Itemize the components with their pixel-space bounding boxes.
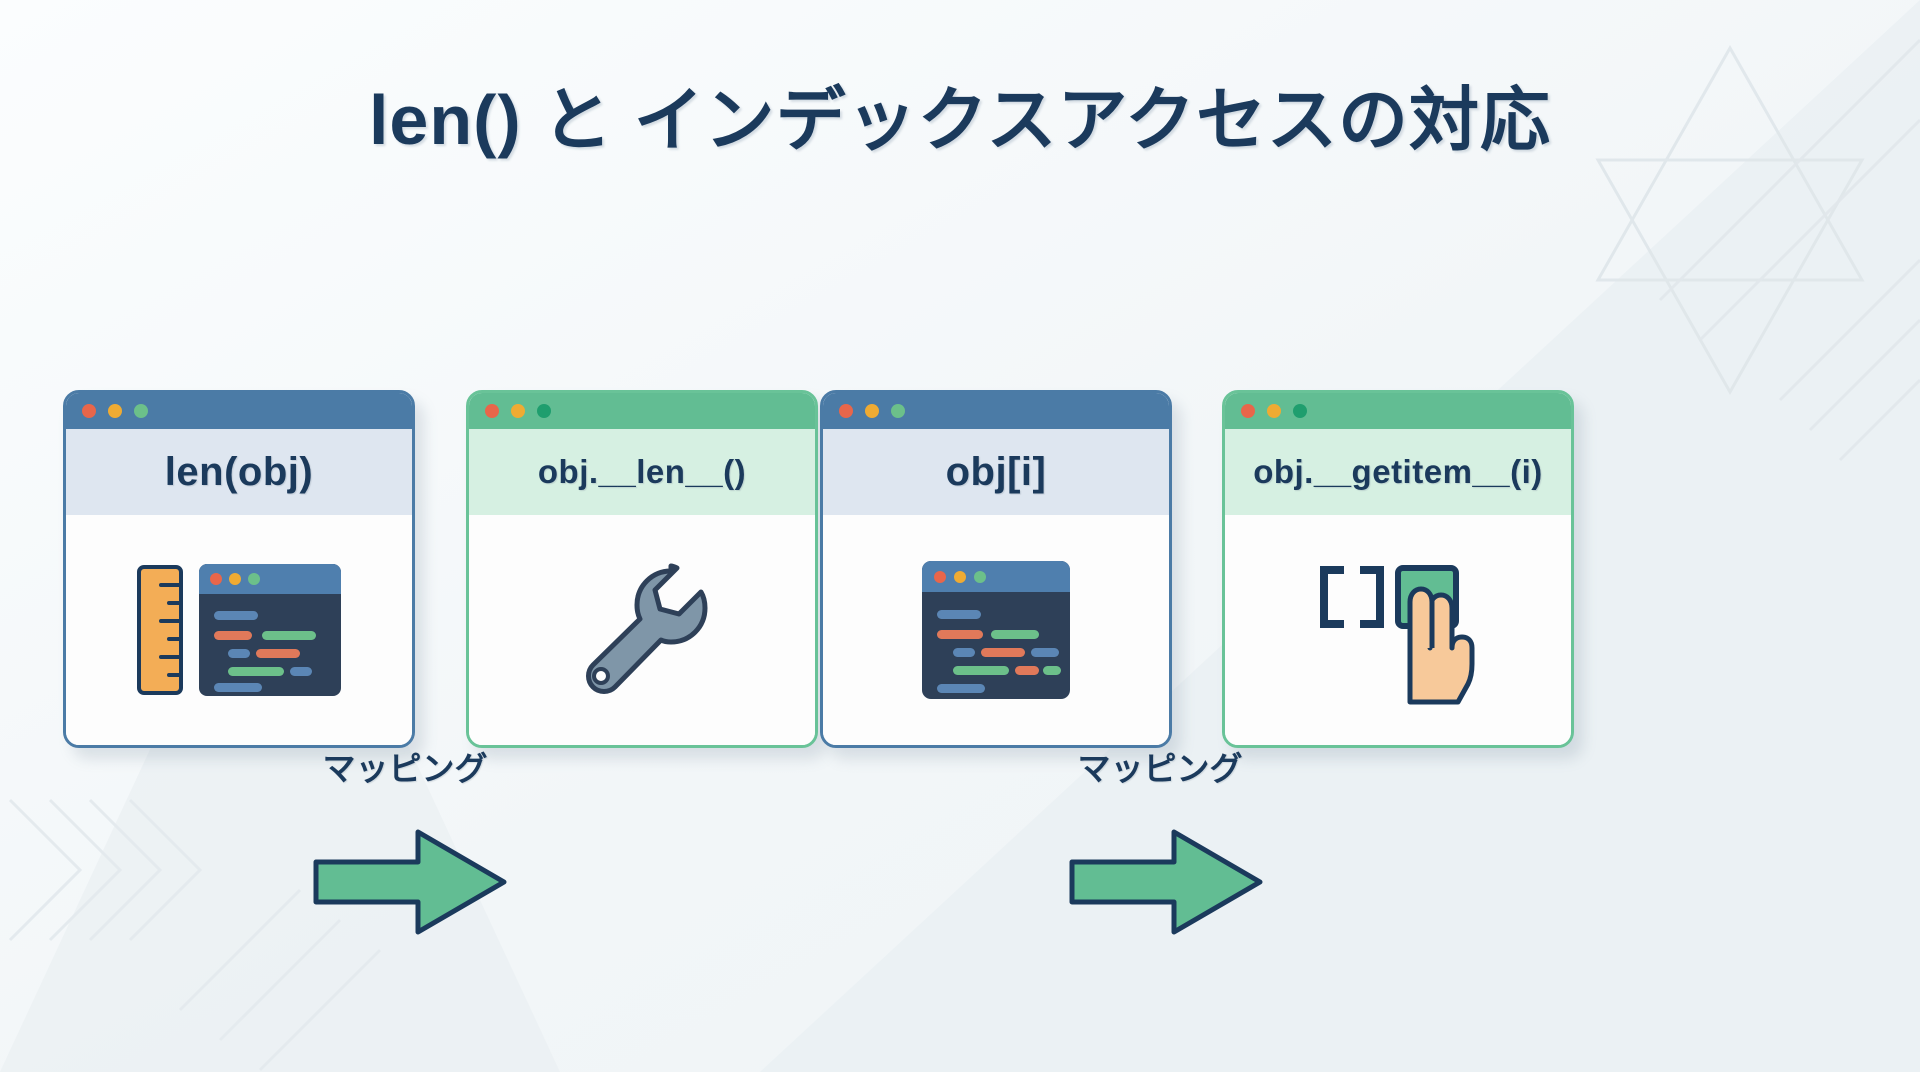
cards-row: len(obj) xyxy=(0,390,1920,750)
card-obj-index[interactable]: obj[i] xyxy=(820,390,1172,748)
card-titlebar xyxy=(823,393,1169,429)
card-dunder-getitem[interactable]: obj.__getitem__(i) xyxy=(1222,390,1574,748)
window-minimize-dot-icon xyxy=(865,404,879,418)
pointing-hand-icon xyxy=(1410,589,1472,702)
brackets-icon xyxy=(1324,570,1380,624)
window-close-dot-icon xyxy=(1241,404,1255,418)
caption-mapping-1: マッピング xyxy=(205,742,605,790)
card-body xyxy=(1225,515,1571,745)
wrench-icon xyxy=(567,555,717,705)
mapping-arrow-1 xyxy=(310,822,510,942)
index-access-icon xyxy=(1298,550,1498,710)
card-body xyxy=(823,515,1169,745)
window-maximize-dot-icon xyxy=(134,404,148,418)
window-maximize-dot-icon xyxy=(1293,404,1307,418)
card-label-obj-index: obj[i] xyxy=(823,429,1169,515)
window-minimize-dot-icon xyxy=(511,404,525,418)
window-maximize-dot-icon xyxy=(537,404,551,418)
window-minimize-dot-icon xyxy=(1267,404,1281,418)
mapping-arrow-2 xyxy=(1066,822,1266,942)
window-close-dot-icon xyxy=(485,404,499,418)
card-label-dunder-getitem: obj.__getitem__(i) xyxy=(1225,429,1571,515)
code-editor-icon xyxy=(198,563,342,697)
window-maximize-dot-icon xyxy=(891,404,905,418)
card-len-obj[interactable]: len(obj) xyxy=(63,390,415,748)
card-titlebar xyxy=(66,393,412,429)
code-editor-icon xyxy=(921,560,1071,700)
card-label-dunder-len: obj.__len__() xyxy=(469,429,815,515)
card-body xyxy=(469,515,815,745)
window-minimize-dot-icon xyxy=(108,404,122,418)
card-titlebar xyxy=(1225,393,1571,429)
window-close-dot-icon xyxy=(82,404,96,418)
ruler-icon xyxy=(136,564,184,696)
window-close-dot-icon xyxy=(839,404,853,418)
caption-mapping-2: マッピング xyxy=(960,742,1360,790)
card-titlebar xyxy=(469,393,815,429)
page-title: len() と インデックスアクセスの対応 xyxy=(0,64,1920,165)
card-body xyxy=(66,515,412,745)
card-dunder-len[interactable]: obj.__len__() xyxy=(466,390,818,748)
card-label-len-obj: len(obj) xyxy=(66,429,412,515)
